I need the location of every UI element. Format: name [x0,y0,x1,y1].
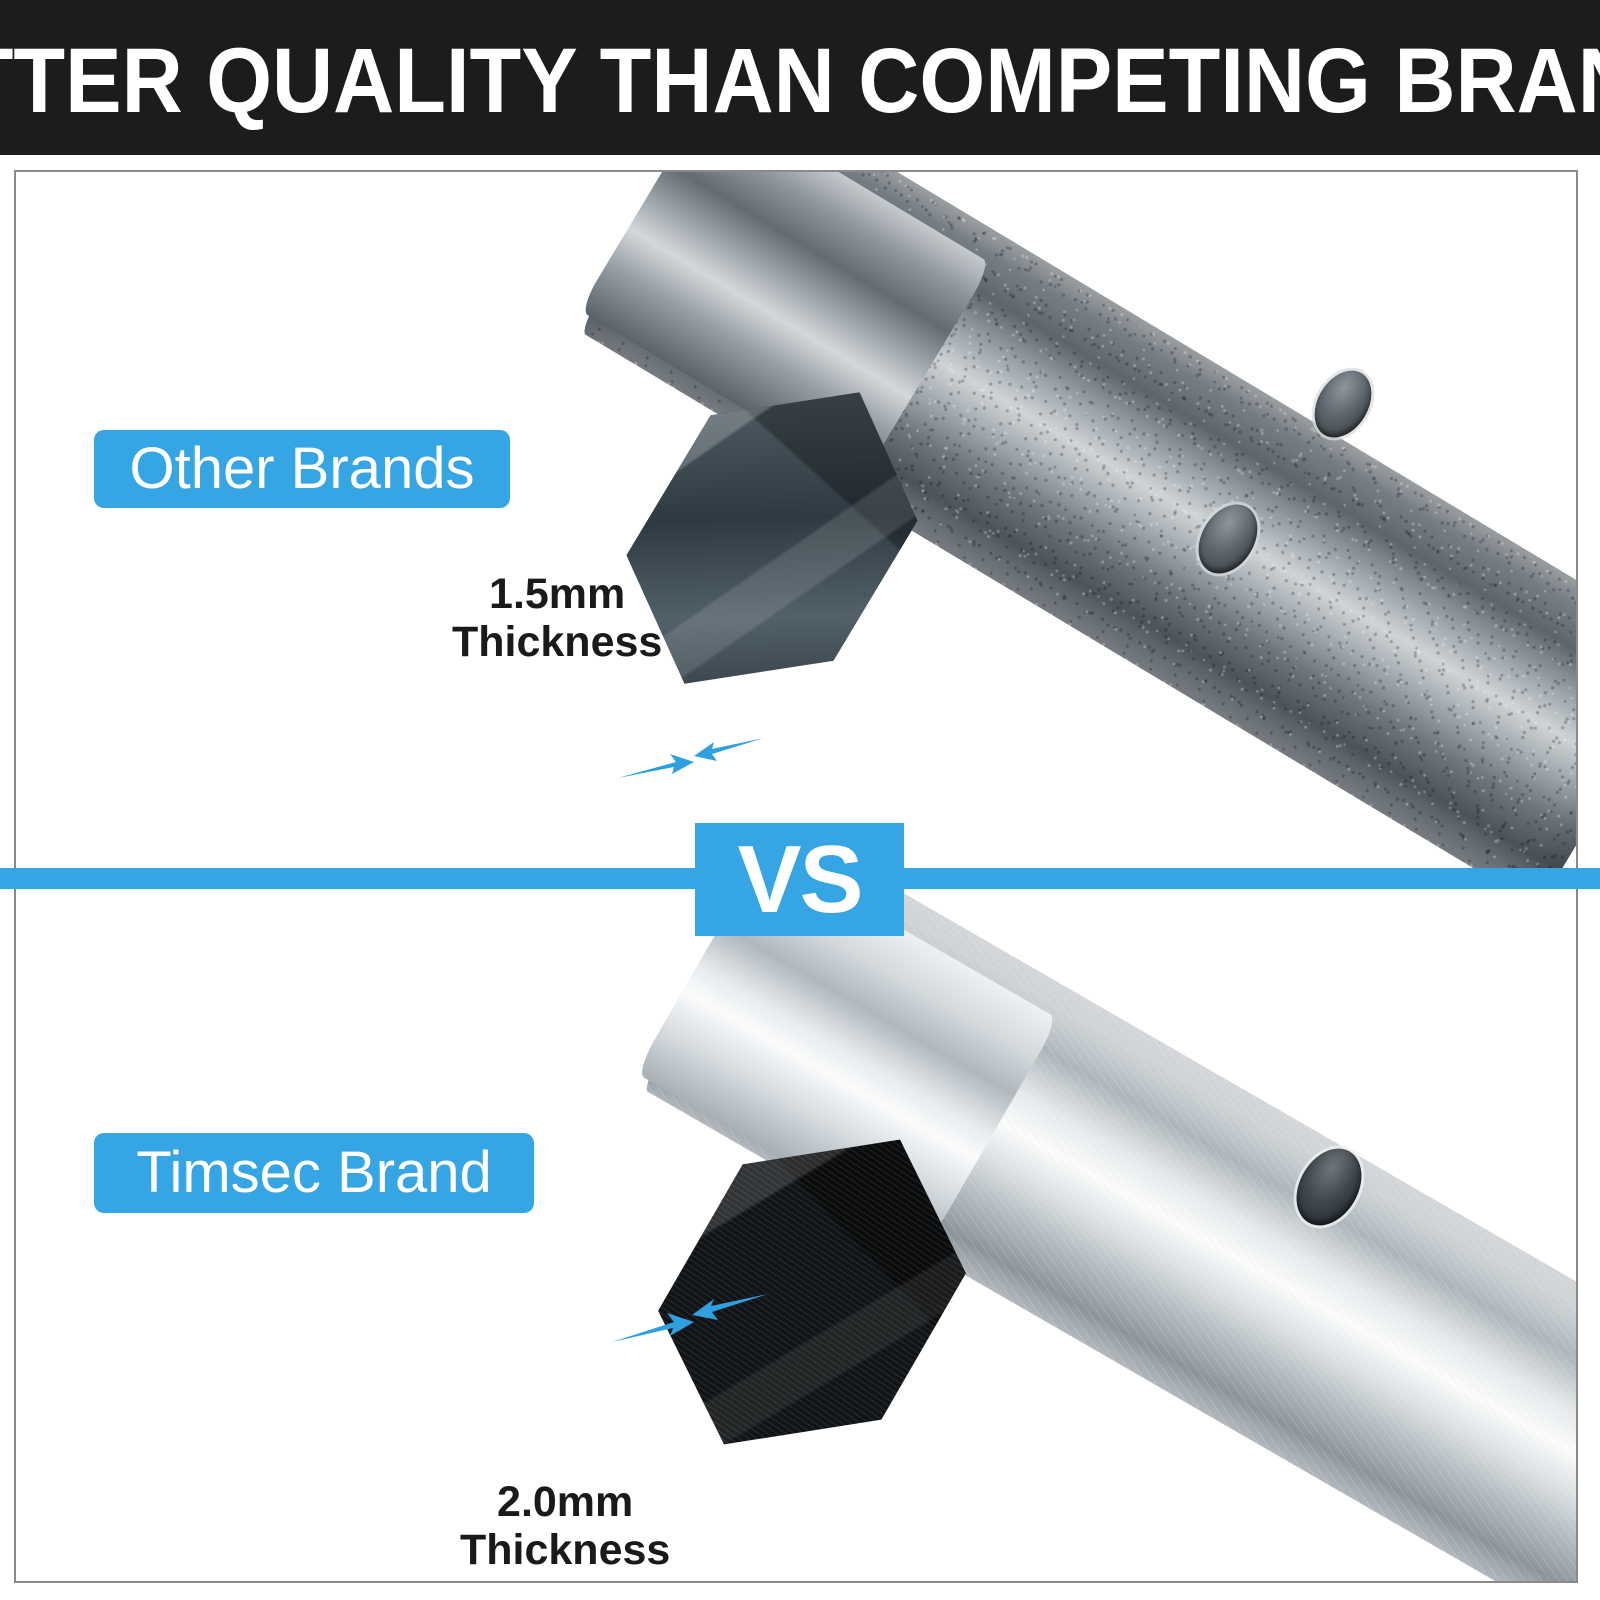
vs-divider-box: VS [695,823,904,936]
panel-other-brands: Other Brands 1.5mm Thickness [16,172,1576,878]
thickness-value: 2.0mm [460,1478,670,1526]
thickness-unit-label: Thickness [460,1526,670,1574]
double-arrow-thickness-indicator-icon [610,1278,770,1358]
badge-timsec-brand: Timsec Brand [94,1133,534,1213]
vs-label: VS [737,832,861,928]
thickness-callout-timsec-brand: 2.0mm Thickness [460,1478,670,1574]
page-title: BETTER QUALITY THAN COMPETING BRANDS [0,29,1600,127]
product-photo-other-brands [16,172,1576,878]
product-photo-timsec-brand [16,878,1576,1581]
thickness-unit-label: Thickness [452,618,662,666]
thickness-value: 1.5mm [452,570,662,618]
double-arrow-thickness-indicator-icon [616,724,766,794]
thickness-callout-other-brands: 1.5mm Thickness [452,570,662,666]
header-bar: BETTER QUALITY THAN COMPETING BRANDS [0,0,1600,155]
badge-other-brands: Other Brands [94,430,510,508]
panel-timsec-brand: Timsec Brand 2.0mm Thickness [16,878,1576,1581]
